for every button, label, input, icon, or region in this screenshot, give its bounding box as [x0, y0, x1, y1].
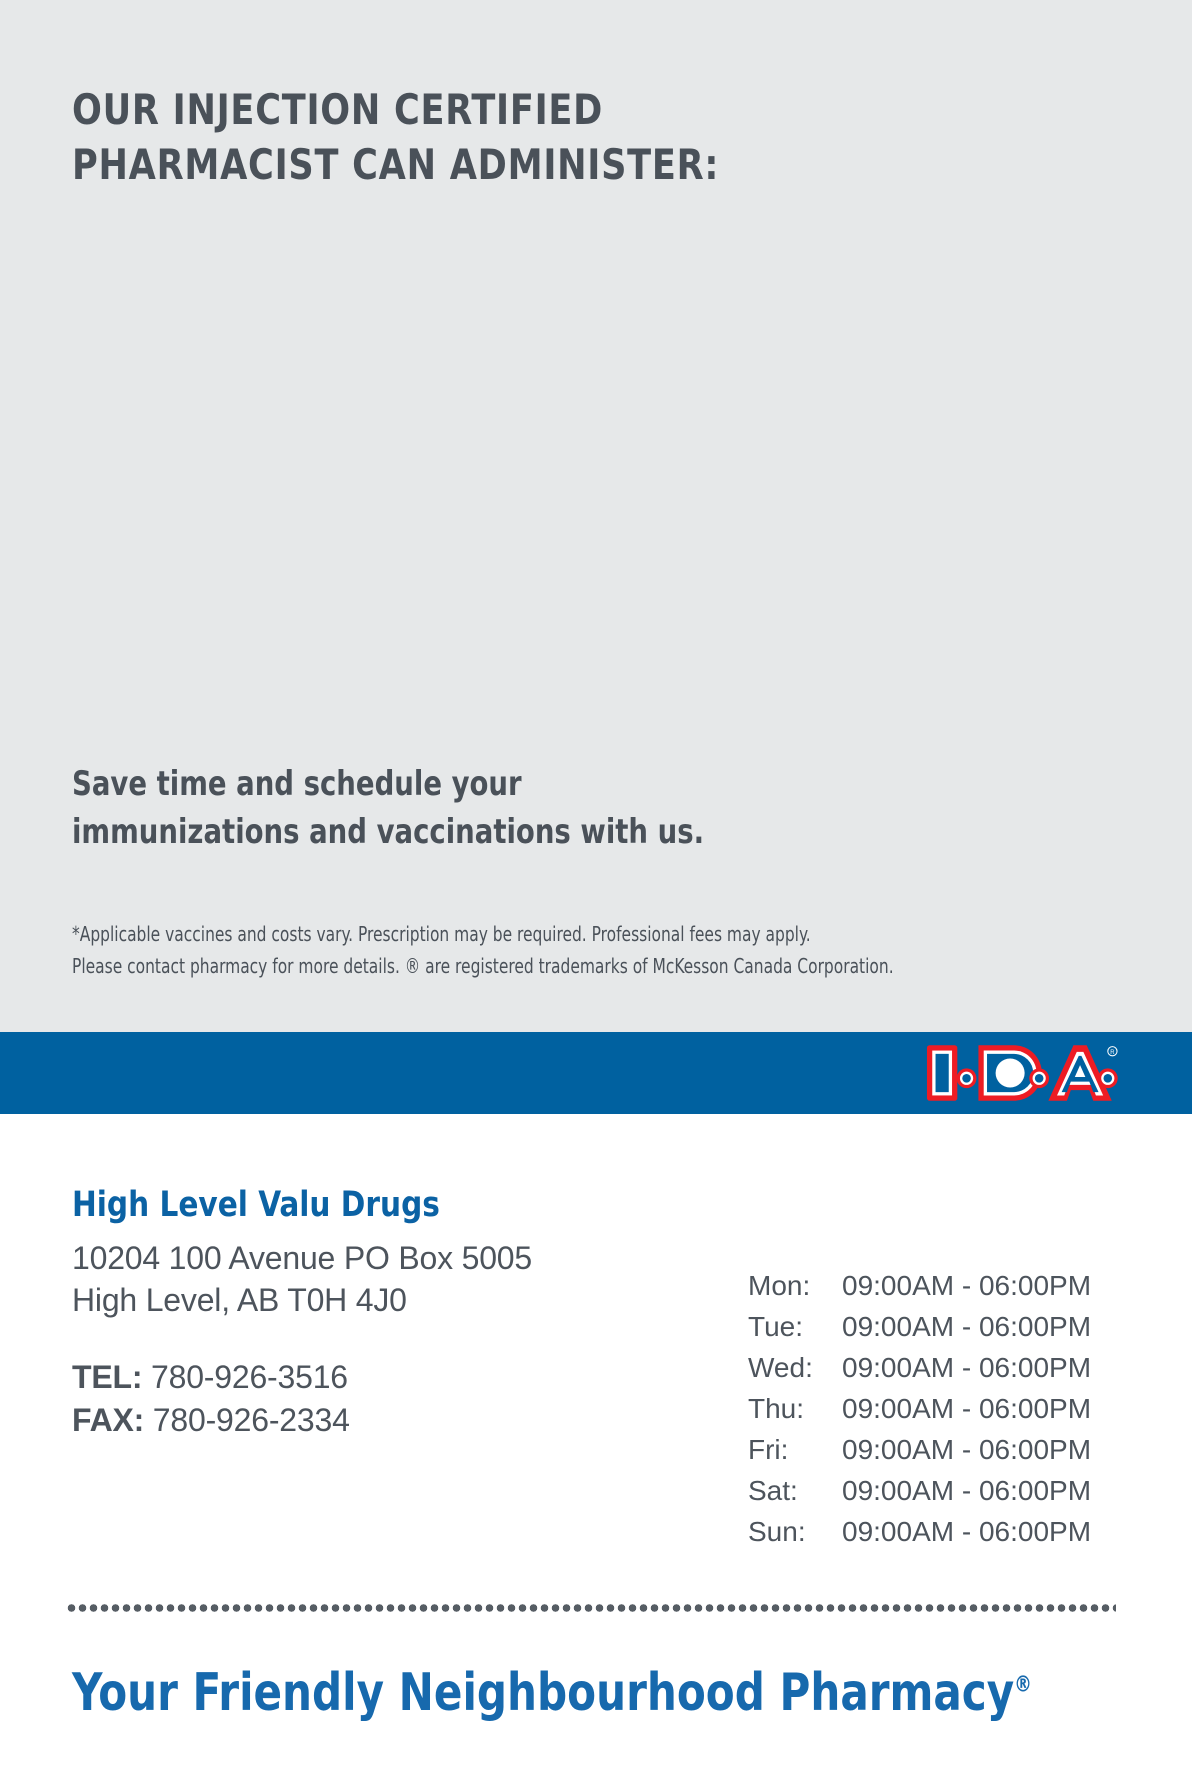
hours-row: Sun:09:00AM - 06:00PM	[748, 1518, 1148, 1546]
subheading-line-1: Save time and schedule your	[72, 760, 864, 808]
hours-day-label: Mon:	[748, 1272, 842, 1300]
hours-row: Tue:09:00AM - 06:00PM	[748, 1313, 1148, 1341]
tagline: Your Friendly Neighbourhood Pharmacy®	[72, 1665, 1142, 1722]
address-line-2: High Level, AB T0H 4J0	[72, 1279, 712, 1321]
hours-table: Mon:09:00AM - 06:00PMTue:09:00AM - 06:00…	[748, 1272, 1148, 1559]
hours-time-value: 09:00AM - 06:00PM	[842, 1477, 1148, 1505]
disclaimer-line-1: *Applicable vaccines and costs vary. Pre…	[72, 918, 975, 950]
hours-row: Sat:09:00AM - 06:00PM	[748, 1477, 1148, 1505]
hours-time-value: 09:00AM - 06:00PM	[842, 1354, 1148, 1382]
address-line-1: 10204 100 Avenue PO Box 5005	[72, 1237, 712, 1279]
hours-day-label: Sun:	[748, 1518, 842, 1546]
disclaimer-line-2: Please contact pharmacy for more details…	[72, 950, 975, 982]
hours-time-value: 09:00AM - 06:00PM	[842, 1395, 1148, 1423]
subheading: Save time and schedule your immunization…	[72, 760, 952, 857]
svg-text:R: R	[1110, 1050, 1115, 1056]
brand-band: R	[0, 1032, 1192, 1114]
registered-trademark-symbol: ®	[1014, 1673, 1032, 1698]
page-title: OUR INJECTION CERTIFIED PHARMACIST CAN A…	[72, 82, 932, 193]
headline-line-2: PHARMACIST CAN ADMINISTER:	[72, 137, 872, 192]
hours-day-label: Sat:	[748, 1477, 842, 1505]
disclaimer: *Applicable vaccines and costs vary. Pre…	[72, 918, 1122, 983]
subheading-line-2: immunizations and vaccinations with us.	[72, 808, 864, 856]
tagline-text: Your Friendly Neighbourhood Pharmacy	[72, 1663, 1014, 1723]
top-panel: OUR INJECTION CERTIFIED PHARMACIST CAN A…	[0, 0, 1192, 1032]
store-address: 10204 100 Avenue PO Box 5005 High Level,…	[72, 1237, 712, 1321]
telephone-label: TEL:	[72, 1359, 142, 1395]
hours-day-label: Thu:	[748, 1395, 842, 1423]
hours-day-label: Wed:	[748, 1354, 842, 1382]
store-name: High Level Valu Drugs	[72, 1185, 674, 1225]
hours-time-value: 09:00AM - 06:00PM	[842, 1313, 1148, 1341]
hours-time-value: 09:00AM - 06:00PM	[842, 1436, 1148, 1464]
telephone-value[interactable]: 780-926-3516	[151, 1359, 348, 1395]
store-contact: TEL: 780-926-3516 FAX: 780-926-2334	[72, 1356, 712, 1442]
store-info: High Level Valu Drugs 10204 100 Avenue P…	[72, 1185, 712, 1441]
hours-time-value: 09:00AM - 06:00PM	[842, 1272, 1148, 1300]
headline-line-1: OUR INJECTION CERTIFIED	[72, 82, 872, 137]
hours-row: Wed:09:00AM - 06:00PM	[748, 1354, 1148, 1382]
flyer-page: OUR INJECTION CERTIFIED PHARMACIST CAN A…	[0, 0, 1192, 1785]
telephone-row: TEL: 780-926-3516	[72, 1356, 712, 1399]
fax-value: 780-926-2334	[153, 1402, 350, 1438]
fax-row: FAX: 780-926-2334	[72, 1399, 712, 1442]
hours-row: Thu:09:00AM - 06:00PM	[748, 1395, 1148, 1423]
ida-logo: R	[922, 1040, 1122, 1106]
hours-row: Mon:09:00AM - 06:00PM	[748, 1272, 1148, 1300]
hours-time-value: 09:00AM - 06:00PM	[842, 1518, 1148, 1546]
fax-label: FAX:	[72, 1402, 144, 1438]
hours-day-label: Tue:	[748, 1313, 842, 1341]
hours-day-label: Fri:	[748, 1436, 842, 1464]
hours-row: Fri:09:00AM - 06:00PM	[748, 1436, 1148, 1464]
dotted-divider	[66, 1604, 1116, 1612]
